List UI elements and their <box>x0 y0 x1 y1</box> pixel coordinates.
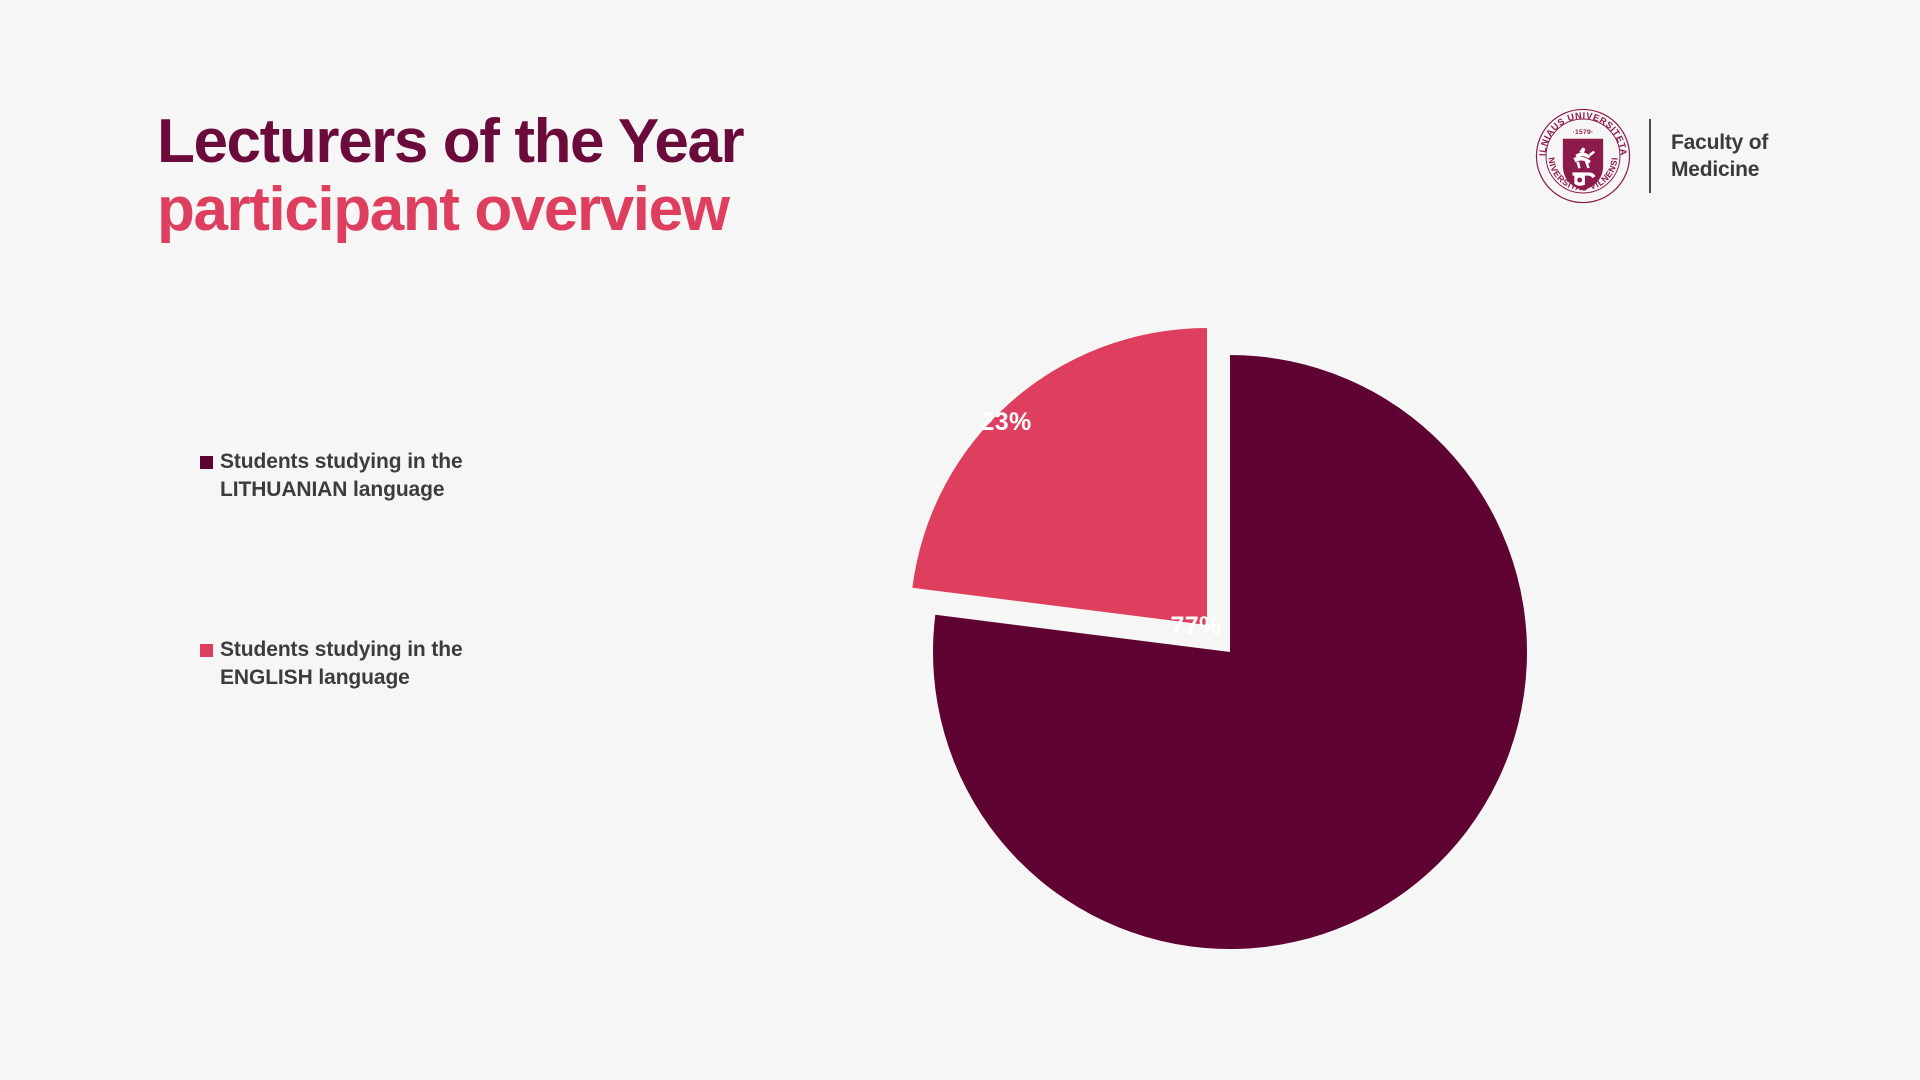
faculty-line-2: Medicine <box>1671 156 1768 183</box>
pie-label-english: 23% <box>981 408 1032 436</box>
pie-chart: 77% 23% <box>880 300 1300 1000</box>
faculty-line-1: Faculty of <box>1671 129 1768 156</box>
legend-label-english-line-1: Students studying in the <box>220 636 463 664</box>
chart-legend: Students studying in the LITHUANIAN lang… <box>200 448 600 692</box>
legend-label-lithuanian-line-2: LITHUANIAN language <box>220 476 463 504</box>
legend-item-english: Students studying in the ENGLISH languag… <box>200 636 600 692</box>
legend-label-english: Students studying in the ENGLISH languag… <box>220 636 463 692</box>
logo-divider <box>1649 119 1651 193</box>
slide-canvas: Lecturers of the Year participant overvi… <box>0 0 1920 1080</box>
legend-label-lithuanian: Students studying in the LITHUANIAN lang… <box>220 448 463 504</box>
title-line-1: Lecturers of the Year <box>157 108 917 176</box>
vilnius-university-seal-icon: · VILNIAUS UNIVERSITETAS · · UNIVERSITAS… <box>1535 108 1631 204</box>
legend-swatch-english <box>200 644 213 657</box>
pie-chart-svg: 77% 23% <box>880 300 1300 1000</box>
legend-swatch-lithuanian <box>200 456 213 469</box>
faculty-name: Faculty of Medicine <box>1671 129 1768 183</box>
legend-label-lithuanian-line-1: Students studying in the <box>220 448 463 476</box>
svg-text:·1579·: ·1579· <box>1573 129 1594 136</box>
page-title: Lecturers of the Year participant overvi… <box>157 108 917 244</box>
title-line-2: participant overview <box>157 176 917 244</box>
legend-item-lithuanian: Students studying in the LITHUANIAN lang… <box>200 448 600 504</box>
pie-label-lithuanian: 77% <box>1171 612 1222 640</box>
pie-slice-english <box>912 328 1207 625</box>
legend-label-english-line-2: ENGLISH language <box>220 664 463 692</box>
brand-logo-lockup: · VILNIAUS UNIVERSITETAS · · UNIVERSITAS… <box>1535 108 1768 204</box>
